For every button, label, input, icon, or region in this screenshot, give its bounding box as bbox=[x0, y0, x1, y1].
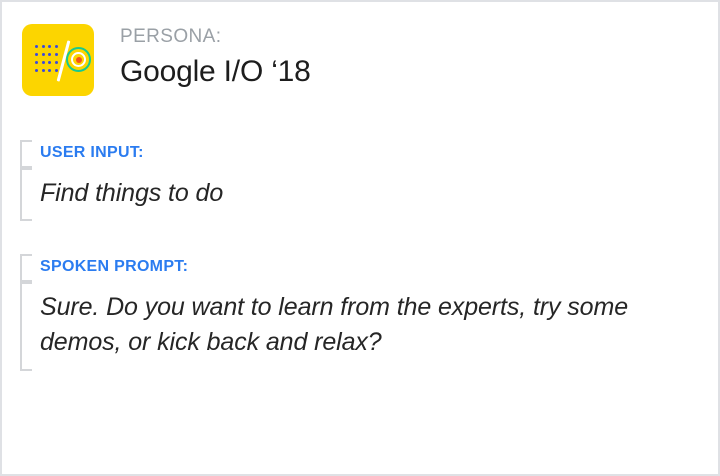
spoken-prompt-label: SPOKEN PROMPT: bbox=[40, 258, 676, 276]
user-input-body-bracket-foot bbox=[20, 219, 32, 221]
user-input-text: Find things to do bbox=[40, 176, 223, 212]
spoken-prompt-block: SPOKEN PROMPT: Sure. Do you want to lear… bbox=[20, 254, 676, 371]
user-input-label: USER INPUT: bbox=[40, 144, 223, 162]
logo-dot-grid bbox=[35, 45, 61, 77]
user-input-bracket-group: USER INPUT: Find things to do bbox=[20, 140, 223, 221]
persona-title: Google I/O ‘18 bbox=[120, 53, 311, 91]
persona-label: PERSONA: bbox=[120, 26, 311, 49]
spoken-prompt-text: Sure. Do you want to learn from the expe… bbox=[40, 290, 676, 361]
spoken-prompt-label-bracket: SPOKEN PROMPT: bbox=[40, 254, 676, 282]
user-input-label-bracket: USER INPUT: bbox=[40, 140, 223, 168]
google-io-logo-icon bbox=[22, 24, 94, 96]
persona-header: PERSONA: Google I/O ‘18 bbox=[22, 24, 311, 96]
persona-text-group: PERSONA: Google I/O ‘18 bbox=[120, 24, 311, 90]
logo-center-dot-icon bbox=[76, 57, 82, 63]
persona-card-page: PERSONA: Google I/O ‘18 USER INPUT: Find… bbox=[0, 0, 720, 476]
spoken-prompt-body-bracket-foot bbox=[20, 369, 32, 371]
spoken-prompt-body-bracket: Sure. Do you want to learn from the expe… bbox=[40, 282, 676, 371]
user-input-body-bracket: Find things to do bbox=[40, 168, 223, 222]
user-input-block: USER INPUT: Find things to do bbox=[20, 140, 223, 221]
spoken-prompt-bracket-group: SPOKEN PROMPT: Sure. Do you want to lear… bbox=[20, 254, 676, 371]
